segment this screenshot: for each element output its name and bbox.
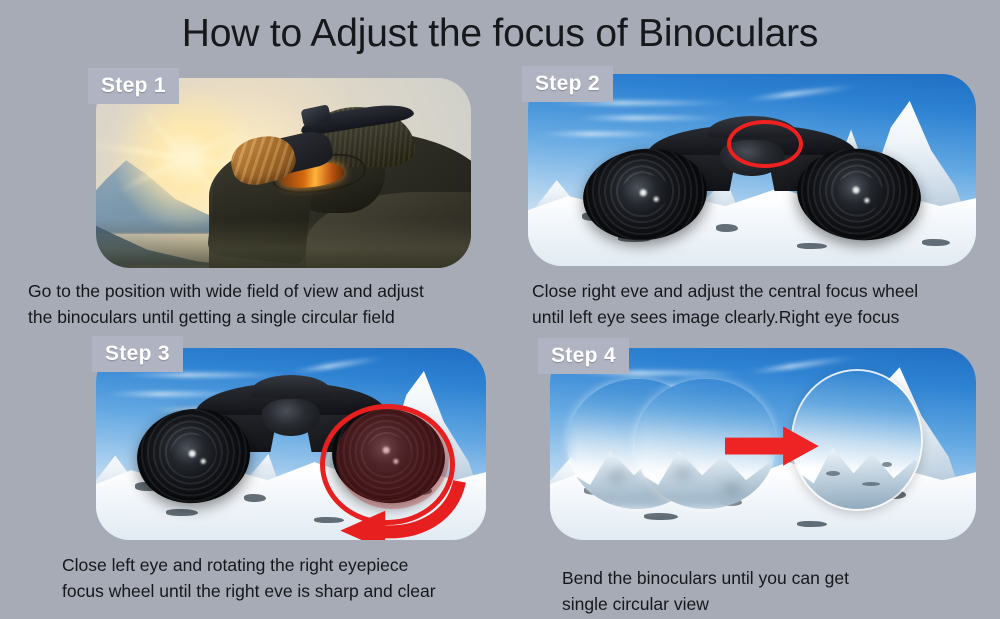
circle-rock	[826, 471, 840, 476]
focus-wheel-highlight-circle	[727, 120, 802, 168]
page-title: How to Adjust the focus of Binoculars	[0, 12, 1000, 56]
step-4-caption-line-2: single circular view	[562, 591, 709, 617]
circle-rock	[609, 473, 625, 479]
step-2-caption-line-2: until left eye sees image clearly.Right …	[532, 304, 899, 330]
step-4-badge: Step 4	[538, 338, 629, 374]
binoculars-hinge	[250, 375, 332, 398]
circle-rock	[675, 470, 691, 476]
rock	[644, 513, 678, 520]
circle-rock	[722, 486, 742, 491]
step-2-card: Step 2	[528, 74, 976, 266]
rock	[797, 521, 827, 527]
step-2-badge: Step 2	[522, 66, 613, 102]
foreground-haze	[96, 219, 471, 268]
step-1-caption-line-2: the binoculars until getting a single ci…	[28, 304, 395, 330]
transition-arrow-icon	[725, 425, 819, 467]
step-4-image	[550, 348, 976, 540]
rotate-arrow-icon	[283, 471, 470, 540]
step-4-card: Step 4	[550, 348, 976, 540]
circle-rock	[862, 482, 880, 486]
step-1-card: Step 1	[96, 78, 471, 268]
step-1-image	[96, 78, 471, 268]
step-1-badge: Step 1	[88, 68, 179, 104]
step-1-caption-line-1: Go to the position with wide field of vi…	[28, 278, 424, 304]
step-3-card: Step 3	[96, 348, 486, 540]
step-2-caption-line-1: Close right eve and adjust the central f…	[532, 278, 918, 304]
step-3-badge: Step 3	[92, 336, 183, 372]
step-2-image	[528, 74, 976, 266]
lens-highlight	[200, 458, 206, 464]
step-3-image	[96, 348, 486, 540]
step-4-caption-line-1: Bend the binoculars until you can get	[562, 565, 849, 591]
step-3-caption-line-1: Close left eye and rotating the right ey…	[62, 552, 408, 578]
step-3-caption-line-2: focus wheel until the right eve is sharp…	[62, 578, 436, 604]
infographic-page: How to Adjust the focus of Binoculars	[0, 0, 1000, 619]
